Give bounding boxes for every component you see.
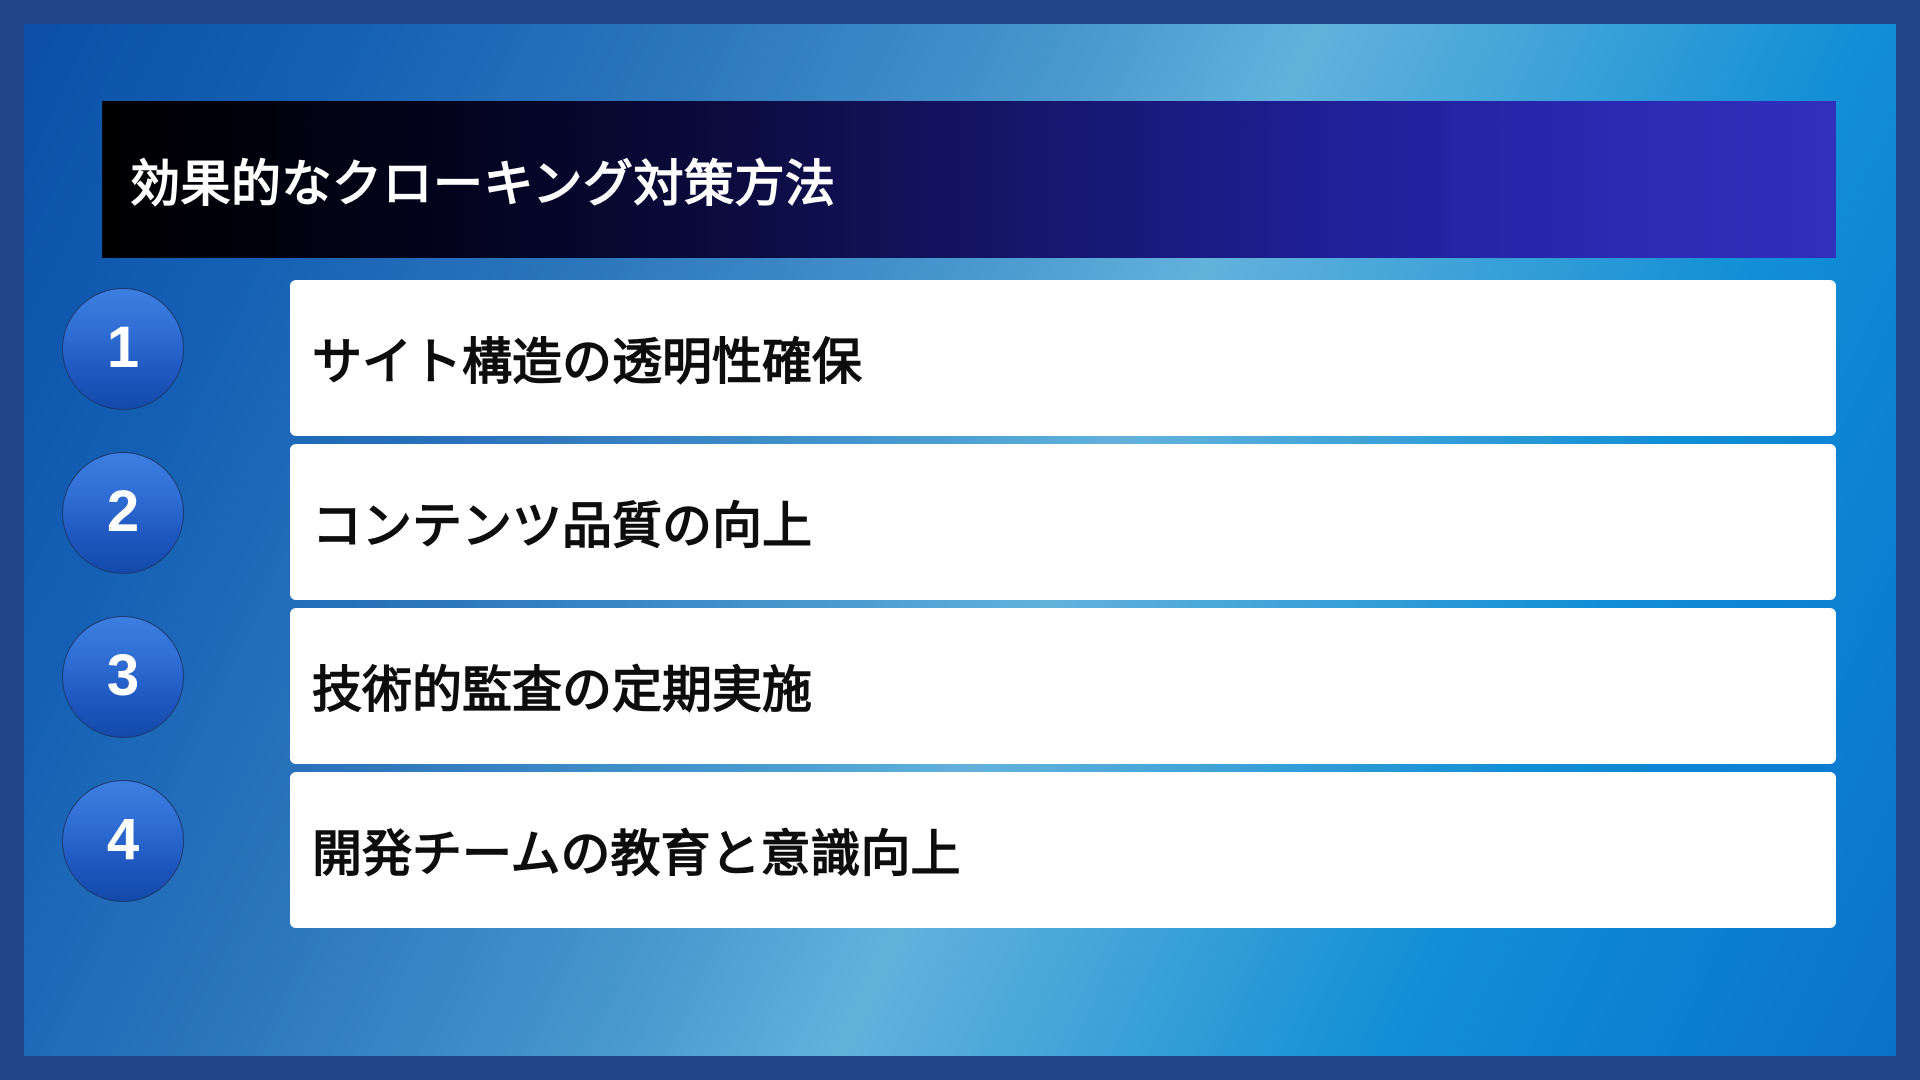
list-item: 4 開発チームの教育と意識向上: [24, 780, 1896, 920]
list-item-number: 1: [107, 319, 139, 377]
list-item-number: 4: [107, 811, 139, 869]
slide-root: 効果的なクローキング対策方法 1 サイト構造の透明性確保 2 コンテンツ品質の向…: [0, 0, 1920, 1080]
list-item-number: 2: [107, 483, 139, 541]
numbered-list: 1 サイト構造の透明性確保 2 コンテンツ品質の向上 3 技: [24, 288, 1896, 944]
list-item-number-badge: 1: [62, 288, 184, 410]
list-item: 1 サイト構造の透明性確保: [24, 288, 1896, 428]
list-item-card: 技術的監査の定期実施: [290, 608, 1836, 764]
slide-title-bar: 効果的なクローキング対策方法: [102, 101, 1836, 258]
list-item-card: コンテンツ品質の向上: [290, 444, 1836, 600]
page-title: 効果的なクローキング対策方法: [130, 144, 836, 216]
list-item: 2 コンテンツ品質の向上: [24, 452, 1896, 592]
list-item-card: サイト構造の透明性確保: [290, 280, 1836, 436]
list-item-number-badge: 3: [62, 616, 184, 738]
slide-background-panel: 効果的なクローキング対策方法 1 サイト構造の透明性確保 2 コンテンツ品質の向…: [24, 24, 1896, 1056]
list-item-label: コンテンツ品質の向上: [312, 486, 812, 558]
list-item-number: 3: [107, 647, 139, 705]
list-item-number-badge: 4: [62, 780, 184, 902]
list-item-number-badge: 2: [62, 452, 184, 574]
list-item-label: 開発チームの教育と意識向上: [312, 814, 961, 886]
list-item-label: サイト構造の透明性確保: [312, 322, 862, 394]
list-item: 3 技術的監査の定期実施: [24, 616, 1896, 756]
list-item-card: 開発チームの教育と意識向上: [290, 772, 1836, 928]
list-item-label: 技術的監査の定期実施: [312, 650, 812, 722]
